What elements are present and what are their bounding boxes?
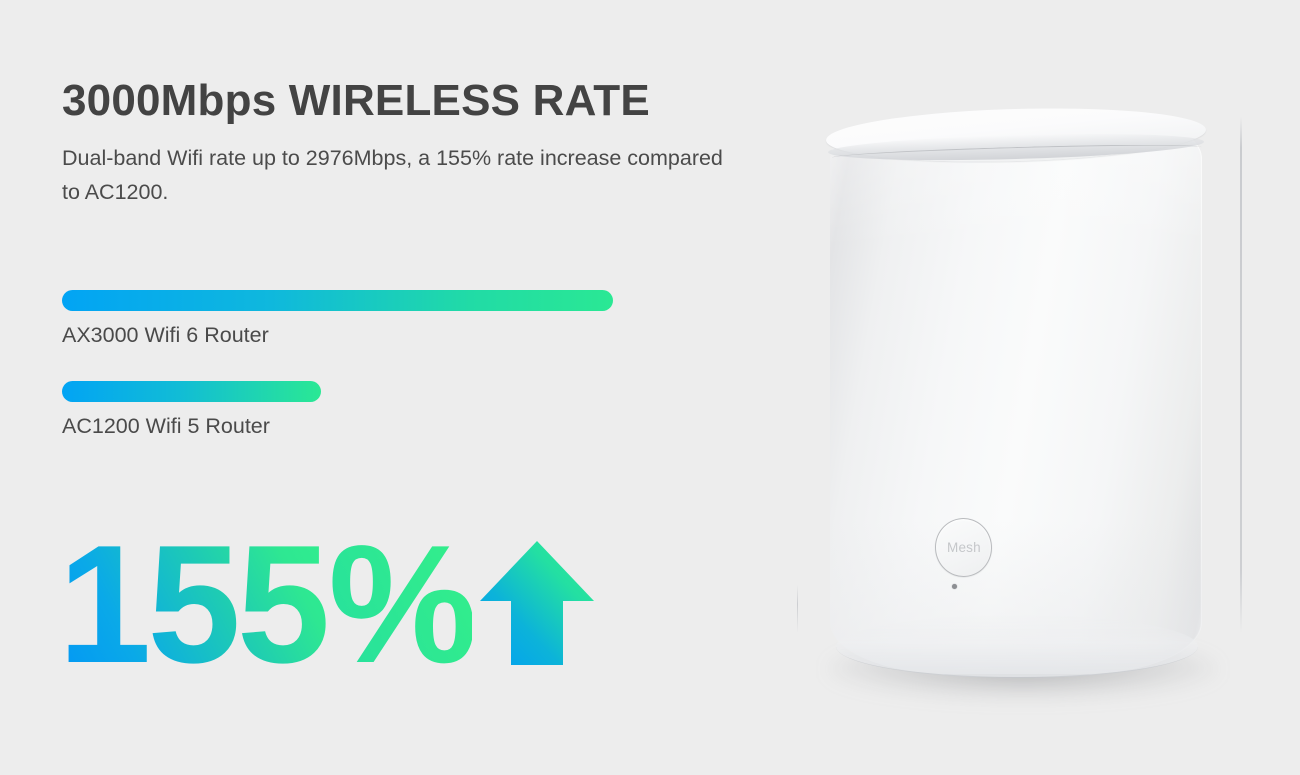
page-title: 3000Mbps WIRELESS RATE bbox=[62, 78, 762, 125]
status-led-indicator bbox=[952, 584, 957, 589]
rate-comparison-bars: AX3000 Wifi 6 Router AC1200 Wifi 5 Route… bbox=[62, 290, 702, 440]
mesh-button-label: Mesh bbox=[947, 540, 981, 555]
bar-track-ax3000 bbox=[62, 290, 702, 311]
bar-group-ax3000: AX3000 Wifi 6 Router bbox=[62, 290, 702, 349]
bar-label-ac1200: AC1200 Wifi 5 Router bbox=[62, 414, 702, 440]
copy-block: 3000Mbps WIRELESS RATE Dual-band Wifi ra… bbox=[62, 78, 762, 210]
up-arrow-icon bbox=[478, 538, 596, 668]
bar-group-ac1200: AC1200 Wifi 5 Router bbox=[62, 381, 702, 440]
bar-fill-ax3000 bbox=[62, 290, 613, 311]
bar-track-ac1200 bbox=[62, 381, 702, 402]
router-bottom-edge bbox=[836, 615, 1198, 678]
router-seam-left bbox=[797, 585, 798, 633]
subtitle-text: Dual-band Wifi rate up to 2976Mbps, a 15… bbox=[62, 141, 742, 211]
promo-banner: 3000Mbps WIRELESS RATE Dual-band Wifi ra… bbox=[0, 0, 1300, 775]
bar-fill-ac1200 bbox=[62, 381, 321, 402]
stat-number: 155 bbox=[58, 520, 328, 688]
router-body-sheen bbox=[830, 129, 1202, 674]
router-body bbox=[830, 129, 1202, 674]
stat-percent-symbol: % bbox=[328, 520, 471, 688]
bar-label-ax3000: AX3000 Wifi 6 Router bbox=[62, 323, 702, 349]
router-seam-right bbox=[1240, 117, 1242, 633]
rate-increase-stat: 155 % bbox=[58, 520, 596, 690]
router-product-photo: Mesh bbox=[790, 95, 1250, 715]
